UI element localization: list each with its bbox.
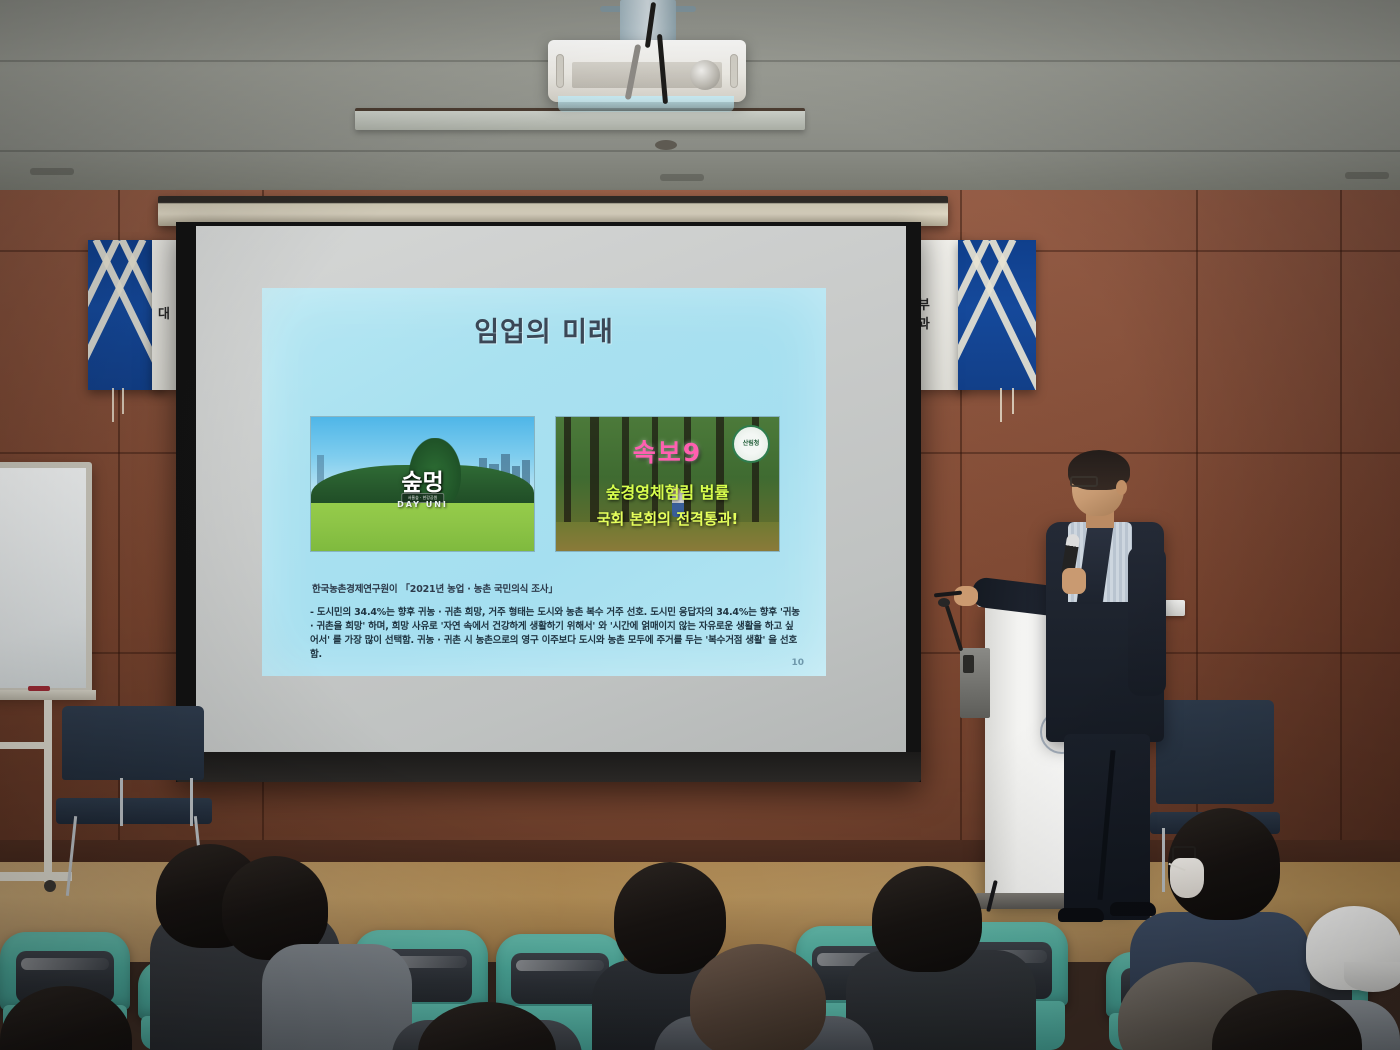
photo-breaking-news-label: 속보9 [556,433,779,469]
chair-leg [66,816,77,896]
seat-cushion-highlight [21,958,109,970]
wall-banner-right [958,240,1036,390]
photo-headline-line2: 국회 본회의 전격통과! [556,508,779,529]
whiteboard-marker-tray [0,690,96,700]
banner-tassel [1000,388,1002,422]
whiteboard-marker[interactable] [28,686,50,691]
audience-member-head [614,862,726,974]
projector-lens [690,60,720,90]
projector-vent-slot [730,54,738,88]
banner-tassel [122,388,124,414]
chair-backrest [62,706,204,780]
presentation-slide: 임업의 미래 숲멍 서울숲 · 한강공원 DAY U [262,288,826,676]
chair-seat [56,798,212,824]
slide-page-number: 10 [791,658,804,668]
forest-news-photo: 산림청 속보9 숲경영체험림 법률 국회 본회의 전격통과! [555,416,780,552]
wall-tile-seam [1340,190,1342,900]
ceiling-vent [660,174,704,181]
photo-lawn [311,503,534,551]
photo-overlay-title: 숲멍 [311,463,534,497]
projector-light-output [558,96,734,112]
slide-image-row: 숲멍 서울숲 · 한강공원 DAY UNI 산림청 속보9 숲경영체험림 법 [310,416,780,556]
cap-brim [1344,962,1400,992]
audience-member-head [872,866,982,972]
lecture-hall-photo: 대 오학부 원학과 임업의 미래 [0,0,1400,1050]
wall-outlet[interactable] [963,655,974,673]
presenter-hand-pointer [954,586,978,606]
whiteboard-stand-post [44,700,52,882]
slide-body-text: - 도시민의 34.4%는 향후 귀농 · 귀촌 희망, 거주 형태는 도시와 … [310,606,802,662]
photo-headline-line1: 숲경영체험림 법률 [556,479,779,503]
chair-leg [190,778,193,826]
gooseneck-microphone-head [938,598,950,607]
ceiling-speaker [655,140,677,150]
projector-vent-slot [556,54,564,88]
chair-leg [120,778,123,826]
presenter-hand-microphone [1062,568,1086,594]
banner-tassel [1012,388,1014,414]
whiteboard-caster [44,880,56,892]
projection-screen-weight-bar [176,752,921,782]
audience-member-face-mask [1170,858,1204,898]
photo-overlay-subtitle: DAY UNI [311,500,534,509]
presenter-shoe [1110,902,1156,916]
presenter-glasses [1070,476,1098,487]
audience-member-head [690,944,826,1050]
ceiling-seam [0,150,1400,152]
whiteboard[interactable] [0,462,92,694]
park-skyline-photo: 숲멍 서울숲 · 한강공원 DAY UNI [310,416,535,552]
slide-source-line: 한국농촌경제연구원이 「2021년 농업 · 농촌 국민의식 조사」 [312,581,558,595]
ceiling-vent [30,168,74,175]
banner-tassel [112,388,114,422]
seat-cushion-highlight [516,960,603,972]
presenter-shoe [1058,908,1104,922]
presenter-ear [1116,480,1127,495]
presenter-near-arm [1128,546,1166,696]
whiteboard-cross-brace [0,742,52,749]
ceiling-vent [1345,172,1389,179]
slide-title: 임업의 미래 [262,310,826,349]
audience-member-shoulders [262,944,412,1050]
ceiling-projector [548,40,746,102]
banner-x-pattern [958,240,1036,390]
